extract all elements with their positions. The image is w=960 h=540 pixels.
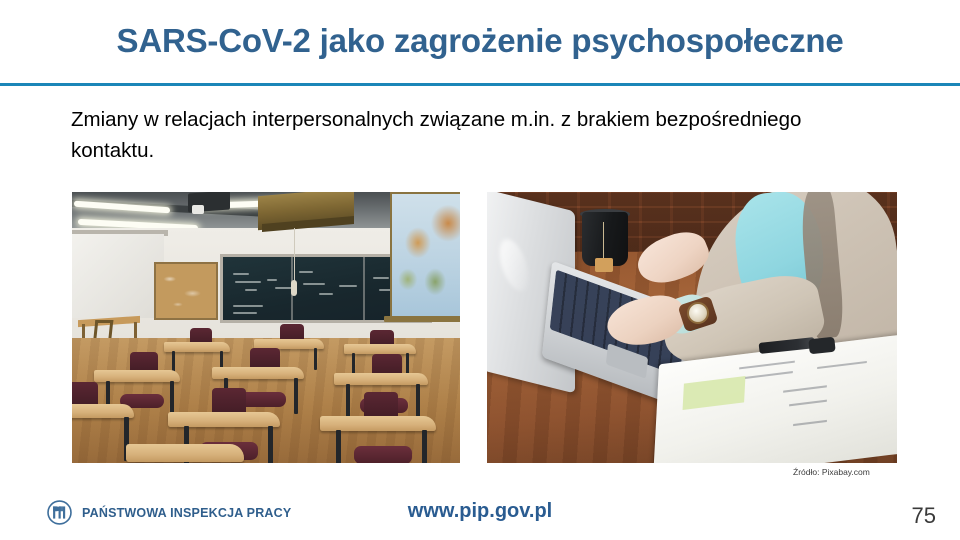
page-number: 75 [912, 503, 936, 529]
classroom-illustration [72, 192, 460, 463]
image-source-caption: Źródło: Pixabay.com [793, 467, 870, 477]
map-rail [384, 316, 460, 322]
cork-board [154, 262, 218, 320]
desk-scene-illustration [487, 192, 897, 463]
projector-lens [192, 205, 204, 214]
slide: SARS-CoV-2 jako zagrożenie psychospołecz… [0, 0, 960, 540]
body-paragraph: Zmiany w relacjach interpersonalnych zwi… [71, 104, 861, 166]
map-pull-knob [291, 280, 297, 296]
map-pull-string [294, 228, 295, 284]
wall-map [390, 192, 460, 318]
tea-tag [595, 258, 613, 272]
tea-string [603, 222, 604, 260]
projection-screen [72, 234, 164, 318]
website-url: www.pip.gov.pl [0, 500, 960, 523]
laptop-work-photo [487, 192, 897, 463]
classroom-photo [72, 192, 460, 463]
page-title: SARS-CoV-2 jako zagrożenie psychospołecz… [0, 22, 960, 60]
wristwatch-face [687, 302, 709, 324]
pen-clip [808, 337, 835, 355]
title-divider [0, 83, 960, 86]
